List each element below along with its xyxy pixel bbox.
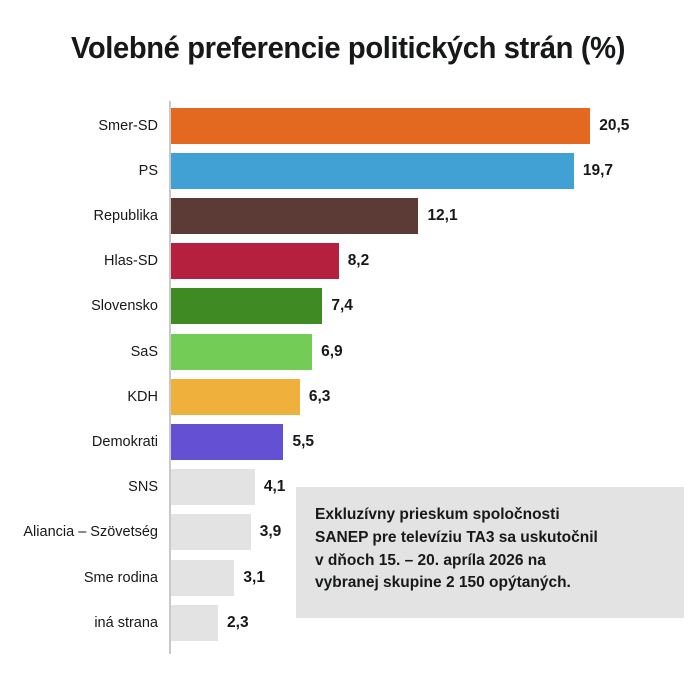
category-label: Aliancia – Szövetség [23,524,158,540]
bar-chart: Volebné preferencie politických strán (%… [0,0,696,679]
bar-row: Demokrati5,5 [0,419,696,464]
category-label: Demokrati [92,434,158,450]
category-label: Sme rodina [84,570,158,586]
bar-value-label: 20,5 [599,117,629,135]
bar-row: SaS6,9 [0,329,696,374]
bar [171,198,418,234]
bar-value-label: 4,1 [264,478,286,496]
category-label: iná strana [94,615,158,631]
bar-value-label: 5,5 [292,433,314,451]
bar [171,560,234,596]
bar-value-label: 6,3 [309,388,331,406]
category-label: KDH [127,389,158,405]
bar-value-label: 12,1 [427,207,457,225]
category-label: Hlas-SD [104,253,158,269]
bar-row: KDH6,3 [0,374,696,419]
bar-value-label: 8,2 [348,252,370,270]
bar-value-label: 7,4 [331,297,353,315]
bar-row: Hlas-SD8,2 [0,239,696,284]
bar [171,288,322,324]
bar [171,514,251,550]
bar [171,108,590,144]
bar-value-label: 6,9 [321,343,343,361]
bar [171,379,300,415]
bar-value-label: 19,7 [583,162,613,180]
category-label: SNS [128,479,158,495]
bar-row: PS19,7 [0,148,696,193]
category-label: Slovensko [91,298,158,314]
bar [171,469,255,505]
bar [171,153,574,189]
bar [171,243,339,279]
chart-title: Volebné preferencie politických strán (%… [21,30,675,66]
bar-value-label: 3,9 [260,523,282,541]
bar [171,334,312,370]
category-label: SaS [131,344,158,360]
bar-value-label: 3,1 [243,569,265,587]
bar-row: Smer-SD20,5 [0,103,696,148]
bar-value-label: 2,3 [227,614,249,632]
bar [171,424,283,460]
annotation-box: Exkluzívny prieskum spoločnosti SANEP pr… [296,487,684,618]
category-label: Smer-SD [98,118,158,134]
annotation-text: Exkluzívny prieskum spoločnosti SANEP pr… [315,504,668,595]
category-label: Republika [94,208,159,224]
category-label: PS [139,163,158,179]
bar-row: Slovensko7,4 [0,284,696,329]
bar-row: Republika12,1 [0,193,696,238]
bar [171,605,218,641]
